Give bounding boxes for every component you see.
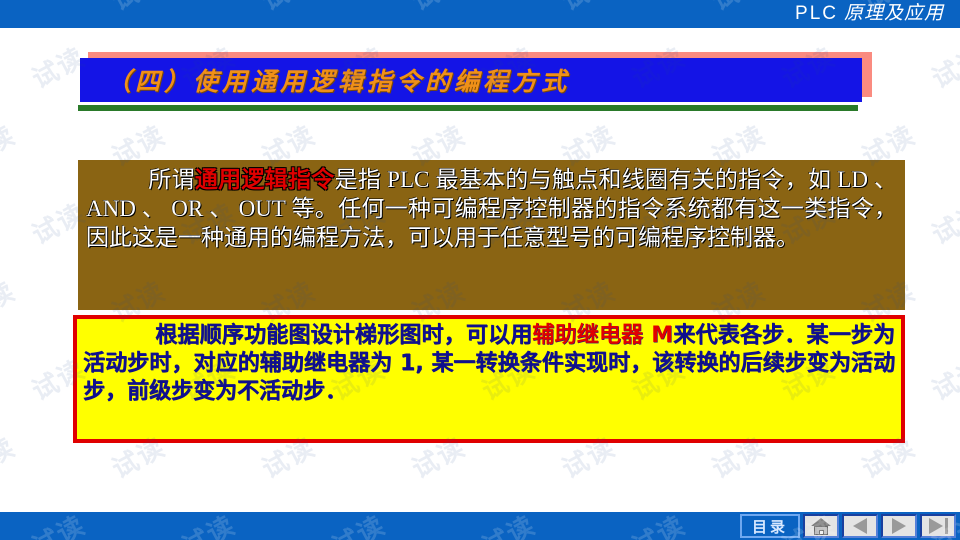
watermark-text: 试读 xyxy=(0,271,21,330)
header-title: PLC原理及应用 xyxy=(795,1,944,27)
triangle-right-bar-icon xyxy=(929,518,943,534)
next-button[interactable] xyxy=(881,514,917,538)
slide-navigation: 目录 xyxy=(740,513,956,539)
definition-text-part1: 所谓 xyxy=(148,167,195,192)
watermark-text: 试读 xyxy=(925,37,960,96)
contents-button-label: 目录 xyxy=(752,516,788,537)
title-underline xyxy=(78,105,858,111)
previous-button[interactable] xyxy=(842,514,878,538)
note-highlight: 辅助继电器 M xyxy=(532,323,673,348)
home-icon xyxy=(811,518,831,535)
definition-panel: 所谓通用逻辑指令是指 PLC 最基本的与触点和线圈有关的指令，如 LD 、 AN… xyxy=(78,160,905,310)
contents-button[interactable]: 目录 xyxy=(740,514,800,538)
triangle-right-icon xyxy=(892,518,906,534)
definition-highlight: 通用逻辑指令 xyxy=(195,167,335,192)
page-title: （四）使用通用逻辑指令的编程方式 xyxy=(80,62,570,98)
end-bar-icon xyxy=(945,518,948,534)
slide-canvas: PLC原理及应用 （四）使用通用逻辑指令的编程方式 所谓通用逻辑指令是指 PLC… xyxy=(0,0,960,540)
title-box: （四）使用通用逻辑指令的编程方式 xyxy=(80,58,862,102)
header-title-latin: PLC xyxy=(795,3,844,24)
watermark-text: 试读 xyxy=(0,427,21,486)
watermark-text: 试读 xyxy=(925,193,960,252)
slide-header: PLC原理及应用 xyxy=(0,0,960,28)
header-title-cjk: 原理及应用 xyxy=(844,3,944,24)
definition-text: 所谓通用逻辑指令是指 PLC 最基本的与触点和线圈有关的指令，如 LD 、 AN… xyxy=(86,165,897,252)
watermark-text: 试读 xyxy=(925,349,960,408)
triangle-left-icon xyxy=(853,518,867,534)
watermark-text: 试读 xyxy=(0,115,21,174)
last-button[interactable] xyxy=(920,514,956,538)
note-text-part1: 根据顺序功能图设计梯形图时，可以用 xyxy=(155,323,532,348)
home-button[interactable] xyxy=(803,514,839,538)
note-text: 根据顺序功能图设计梯形图时，可以用辅助继电器 M来代表各步．某一步为活动步时，对… xyxy=(83,322,895,406)
note-panel: 根据顺序功能图设计梯形图时，可以用辅助继电器 M来代表各步．某一步为活动步时，对… xyxy=(73,315,905,443)
